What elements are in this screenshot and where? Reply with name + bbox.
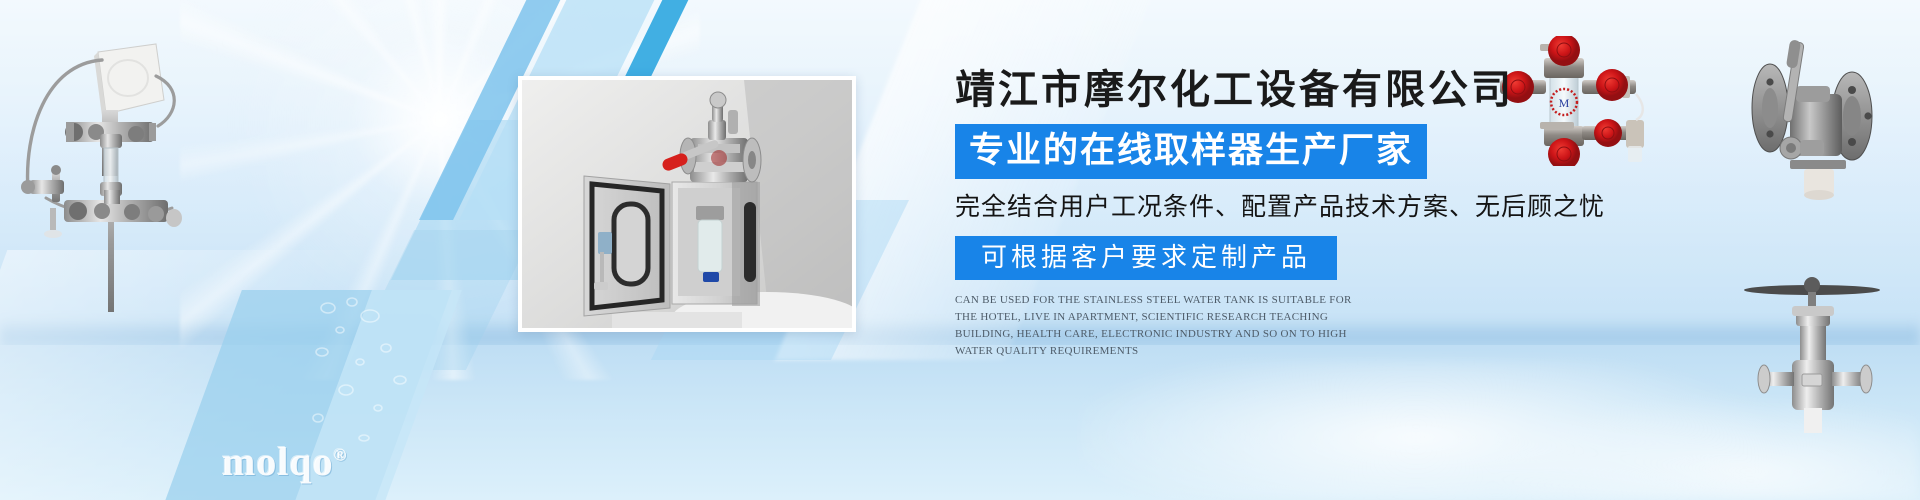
- product-image-lever-flange-valve: [1712, 24, 1912, 209]
- tagline-primary-badge: 专业的在线取样器生产厂家: [955, 124, 1427, 179]
- product-image-handwheel-flange-valve: [1740, 248, 1915, 433]
- product-photo-sampler-cabinet: [518, 76, 856, 332]
- tagline-secondary: 完全结合用户工况条件、配置产品技术方案、无后顾之忧: [955, 195, 1675, 220]
- registered-trademark-icon: ®: [334, 446, 347, 465]
- product-image-sampler-on-stand: [6, 22, 196, 312]
- description-english: CAN BE USED FOR THE STAINLESS STEEL WATE…: [955, 292, 1355, 360]
- watermark-text: molqo: [222, 439, 334, 484]
- headline-copy-block: 靖江市摩尔化工设备有限公司 专业的在线取样器生产厂家 完全结合用户工况条件、配置…: [955, 70, 1675, 360]
- tagline-custom-badge: 可根据客户要求定制产品: [955, 236, 1337, 280]
- company-name: 靖江市摩尔化工设备有限公司: [955, 70, 1675, 110]
- water-droplets-icon: [300, 290, 440, 460]
- watermark-logo: molqo®: [222, 442, 346, 482]
- promotional-banner: M: [0, 0, 1920, 500]
